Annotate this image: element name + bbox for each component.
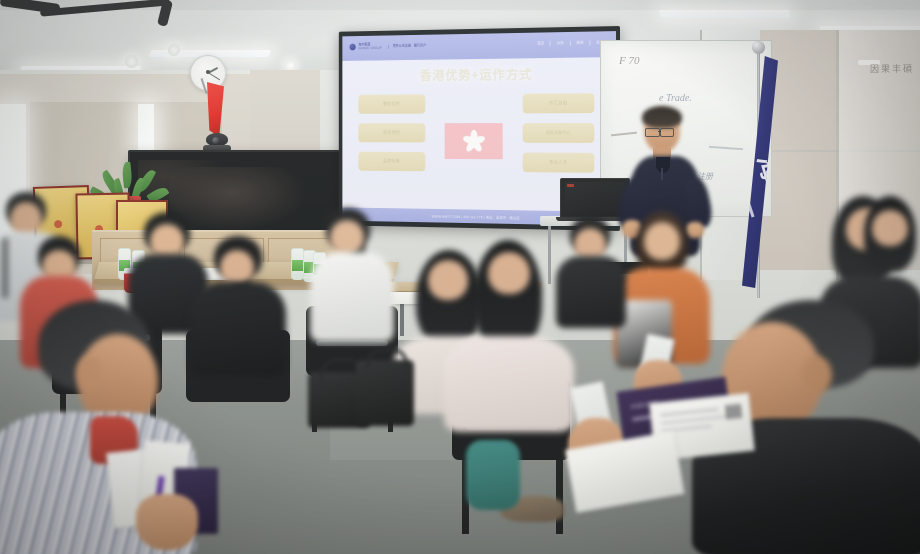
- polo-placket: [661, 168, 663, 180]
- slide-title: 香港优势+运作方式: [342, 63, 616, 85]
- wall-slogan: 因果丰碩: [870, 62, 914, 75]
- slide-box-right-0: 外汇自由: [523, 93, 595, 113]
- slide-box-left-0: 税收优势: [358, 94, 425, 113]
- banner-finial: [752, 41, 765, 54]
- slide-nav-item-2: 案例: [570, 41, 590, 46]
- eyeglasses-icon: [660, 128, 674, 137]
- slide-header-bar: 海外集团 HAIWAI GROUP 境外公司注册 银行开户 首页 业务 案例 关…: [342, 31, 616, 61]
- slide-footer-text: WWW.HWJT.COM | 400-xxx-778 | 地址：深圳市 · 南山…: [432, 213, 520, 219]
- slide-nav-item-0: 首页: [532, 41, 551, 46]
- header-item-0: 境外公司注册: [388, 44, 411, 48]
- logo-mark-icon: [349, 44, 355, 51]
- attendee-pink-top: [448, 240, 570, 430]
- attendee-white-blouse: [310, 208, 394, 338]
- slide-nav: 首页 业务 案例 关于: [532, 40, 610, 46]
- header-item-1: 银行开户: [414, 44, 426, 48]
- ear: [802, 356, 832, 394]
- eyeglasses-icon: [645, 128, 660, 137]
- ceiling-light: [659, 10, 792, 18]
- slide-box-right-1: 国际金融中心: [523, 123, 595, 143]
- seminar-photo: 因果丰碩: [0, 0, 920, 554]
- attendee-striped-shirt: [0, 300, 236, 554]
- downlight: [168, 44, 180, 56]
- chair-leg: [556, 460, 563, 534]
- clock-minute-hand: [208, 72, 221, 81]
- hong-kong-flag-icon: [445, 123, 503, 159]
- slide-box-left-1: 贸易便利: [358, 123, 425, 142]
- slide-brand-logo: 海外集团 HAIWAI GROUP 境外公司注册 银行开户: [349, 42, 426, 50]
- whiteboard-note-1: e Trade.: [659, 93, 692, 104]
- bauhinia-flower-icon: [461, 129, 485, 154]
- downlight: [125, 55, 138, 68]
- attendee-far-right-2: [858, 196, 920, 306]
- slide-nav-item-1: 业务: [551, 41, 571, 46]
- handbag: [356, 360, 414, 426]
- whiteboard-note-0: F 70: [619, 55, 639, 67]
- ear: [76, 356, 102, 390]
- polo-collar: [656, 157, 670, 173]
- whiteboard-stroke: [709, 146, 743, 150]
- qr-code-icon: [726, 404, 741, 419]
- presenter-hair: [642, 106, 682, 128]
- brand-subtitle: HAIWAI GROUP: [358, 47, 381, 51]
- hand: [136, 494, 198, 550]
- eyeglasses-bridge: [658, 131, 661, 132]
- clock-center: [206, 70, 210, 74]
- video-conference-camera: [203, 133, 231, 151]
- slide-box-right-2: 专业人才: [523, 153, 595, 173]
- attendee-back-row: [556, 216, 626, 326]
- bag-handle: [366, 348, 408, 369]
- skirt: [466, 440, 520, 510]
- slide-box-left-2: 品牌形象: [358, 152, 425, 172]
